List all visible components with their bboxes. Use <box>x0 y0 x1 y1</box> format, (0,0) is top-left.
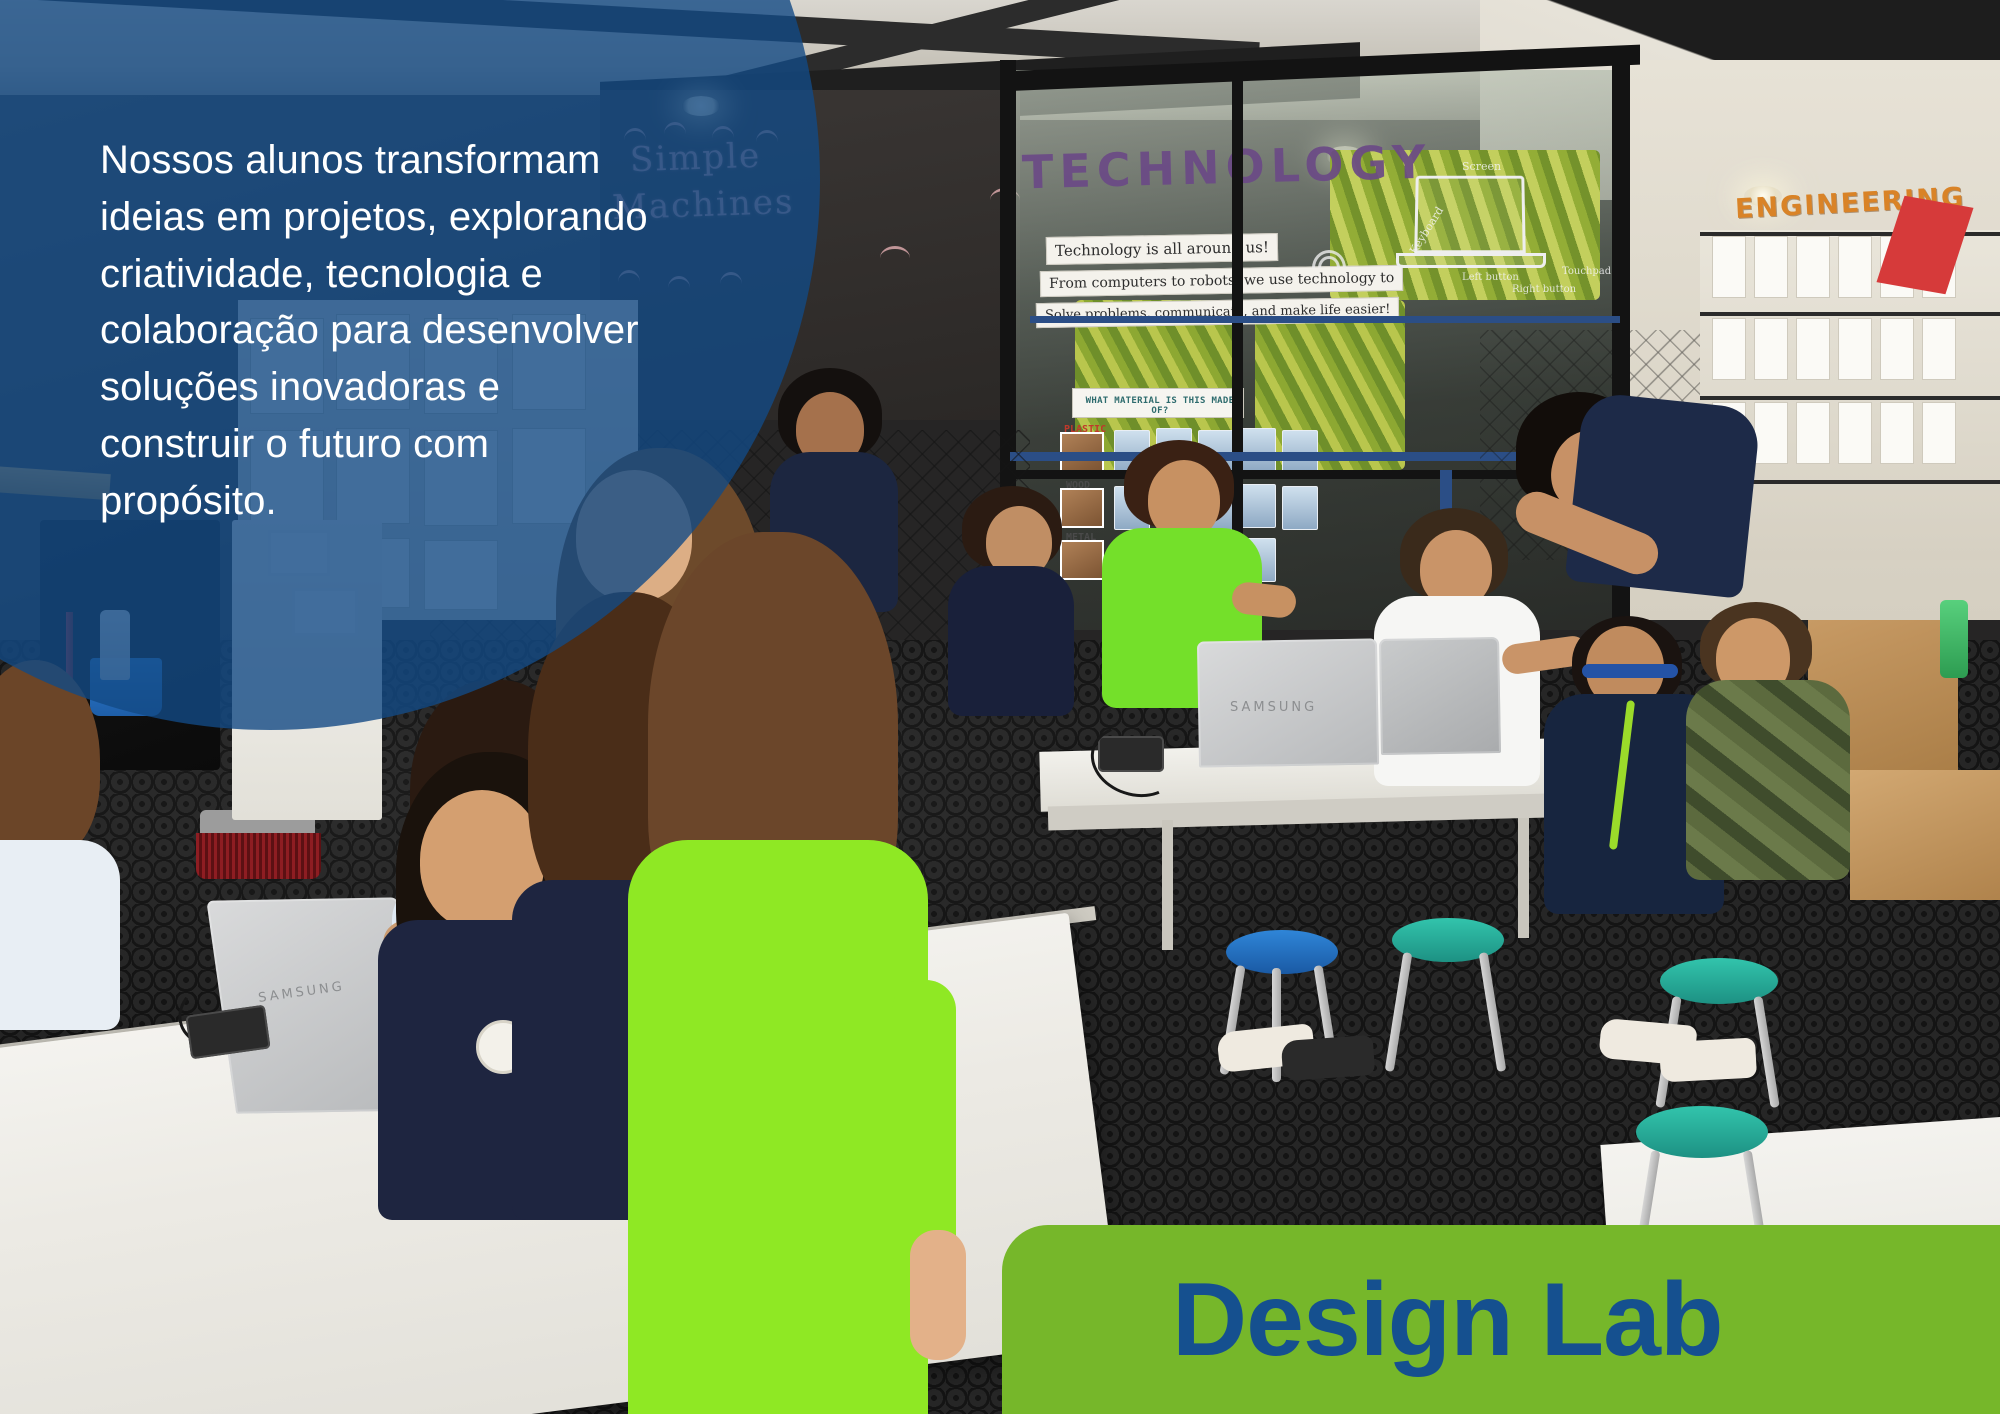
shoe <box>1281 1035 1376 1081</box>
laptop-label-right-button: Right button <box>1512 284 1576 295</box>
student-work-card <box>1796 402 1830 464</box>
material-label-metal: METAL <box>1066 532 1096 543</box>
laptop-label-screen: Screen <box>1462 160 1501 173</box>
material-thumb <box>1060 540 1104 580</box>
material-label-wood: WOOD <box>1066 480 1090 491</box>
banner-title: Design Lab <box>1172 1268 1723 1372</box>
student-work-card <box>1838 236 1872 298</box>
display-rail <box>1700 312 2000 316</box>
table-leg <box>1162 820 1173 950</box>
tech-strip-1: Technology is all around us! <box>1046 233 1278 265</box>
student-work-card <box>1880 318 1914 380</box>
student-work-card <box>1796 236 1830 298</box>
student-work-card <box>1754 318 1788 380</box>
foliage <box>1255 300 1405 470</box>
material-thumb <box>1060 488 1104 528</box>
green-bottle <box>1940 600 1968 678</box>
laptop-brand: SAMSUNG <box>1230 700 1317 715</box>
technology-sign: TECHNOLOGY <box>1021 135 1432 200</box>
student-work-card <box>1922 402 1956 464</box>
broom-bristles <box>196 833 321 879</box>
student-work-card <box>1838 402 1872 464</box>
laptop-lid <box>1379 637 1501 755</box>
material-card <box>1240 428 1276 472</box>
student-work-card <box>1712 318 1746 380</box>
student-work-card <box>1754 402 1788 464</box>
laptop-label-left-button: Left button <box>1462 272 1519 283</box>
design-lab-banner: Design Lab <box>1002 1225 2000 1414</box>
student-work-card <box>1712 236 1746 298</box>
student-work-card <box>1754 236 1788 298</box>
material-poster-title: WHAT MATERIAL IS THIS MADE OF? <box>1080 396 1240 416</box>
glasses-icon <box>1582 664 1678 678</box>
table-leg <box>1518 818 1529 938</box>
cardboard-box <box>1850 770 2000 900</box>
design-lab-promo-card: Simple Machines TECHNOLOGY Technology is… <box>0 0 2000 1414</box>
material-label-plastic: PLASTIC <box>1064 424 1106 435</box>
display-rail <box>1700 396 2000 400</box>
laptop-label-touchpad: Touchpad <box>1562 266 1611 277</box>
student-work-card <box>1922 318 1956 380</box>
rail <box>1030 316 1620 323</box>
student-work-card <box>1880 402 1914 464</box>
student-work-card <box>1796 318 1830 380</box>
material-card <box>1282 486 1318 530</box>
shoe <box>1659 1038 1757 1083</box>
overlay-paragraph: Nossos alunos transformam ideias em proj… <box>100 132 660 530</box>
student-work-card <box>1838 318 1872 380</box>
material-card <box>1240 484 1276 528</box>
